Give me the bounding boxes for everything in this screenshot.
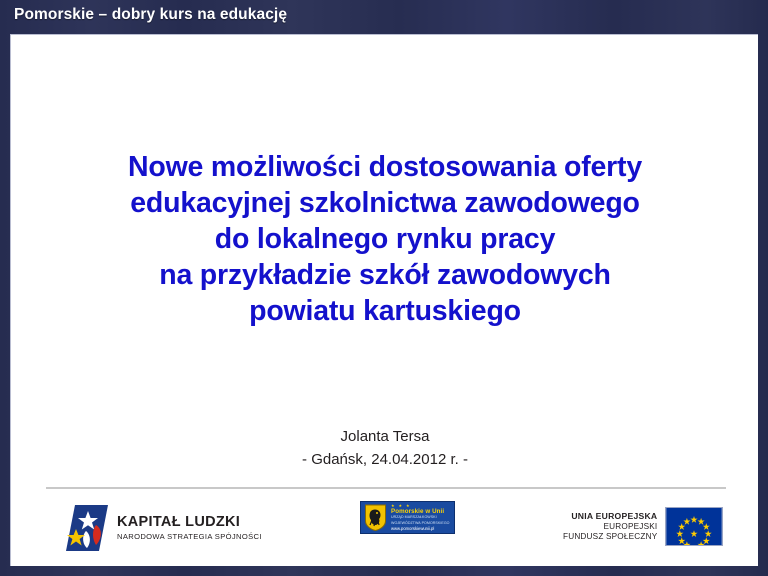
slide-header-bar: Pomorskie – dobry kurs na edukację — [0, 0, 768, 34]
pomorskie-text: ★ ★ ★ Pomorskie w Unii URZĄD MARSZAŁKOWS… — [391, 504, 450, 532]
title-line-4: na przykładzie szkół zawodowych — [11, 257, 759, 293]
kapital-ludzki-text: KAPITAŁ LUDZKI NARODOWA STRATEGIA SPÓJNO… — [117, 515, 262, 540]
unia-europejska-line-2: EUROPEJSKI — [563, 523, 657, 531]
title-line-5: powiatu kartuskiego — [11, 293, 759, 329]
logo-unia-europejska: UNIA EUROPEJSKA EUROPEJSKI FUNDUSZ SPOŁE… — [563, 507, 723, 546]
pomorskie-url: www.pomorskiewunii.pl — [391, 527, 450, 531]
eu-flag-icon — [665, 507, 723, 546]
pomorskie-title: Pomorskie w Unii — [391, 509, 450, 515]
logo-kapital-ludzki: KAPITAŁ LUDZKI NARODOWA STRATEGIA SPÓJNO… — [66, 505, 262, 551]
pomorskie-griffin-crest-icon — [364, 504, 387, 531]
unia-europejska-line-1: UNIA EUROPEJSKA — [563, 512, 657, 521]
title-line-3: do lokalnego rynku pracy — [11, 221, 759, 257]
logo-pomorskie-w-unii: ★ ★ ★ Pomorskie w Unii URZĄD MARSZAŁKOWS… — [360, 501, 455, 534]
title-line-1: Nowe możliwości dostosowania oferty — [11, 149, 759, 185]
kapital-ludzki-subtitle: NARODOWA STRATEGIA SPÓJNOŚCI — [117, 533, 262, 541]
kapital-ludzki-title: KAPITAŁ LUDZKI — [117, 515, 262, 530]
unia-europejska-text: UNIA EUROPEJSKA EUROPEJSKI FUNDUSZ SPOŁE… — [563, 512, 657, 542]
footer-divider — [46, 487, 726, 489]
author-place-date: - Gdańsk, 24.04.2012 r. - — [11, 448, 759, 471]
footer-logo-row: KAPITAŁ LUDZKI NARODOWA STRATEGIA SPÓJNO… — [11, 501, 759, 565]
slide-main-title: Nowe możliwości dostosowania oferty eduk… — [11, 149, 759, 329]
presentation-slide: Pomorskie – dobry kurs na edukację Nowe … — [0, 0, 768, 576]
pomorskie-line-2: WOJEWÓDZTWA POMORSKIEGO — [391, 522, 450, 526]
slide-content-panel: Nowe możliwości dostosowania oferty eduk… — [10, 34, 758, 566]
slide-author-block: Jolanta Tersa - Gdańsk, 24.04.2012 r. - — [11, 425, 759, 471]
unia-europejska-line-3: FUNDUSZ SPOŁECZNY — [563, 533, 657, 541]
author-name: Jolanta Tersa — [11, 425, 759, 448]
kapital-ludzki-stars-emblem-icon — [66, 505, 108, 551]
title-line-2: edukacyjnej szkolnictwa zawodowego — [11, 185, 759, 221]
slide-header-title: Pomorskie – dobry kurs na edukację — [14, 6, 287, 24]
pomorskie-line-1: URZĄD MARSZAŁKOWSKI — [391, 516, 450, 520]
